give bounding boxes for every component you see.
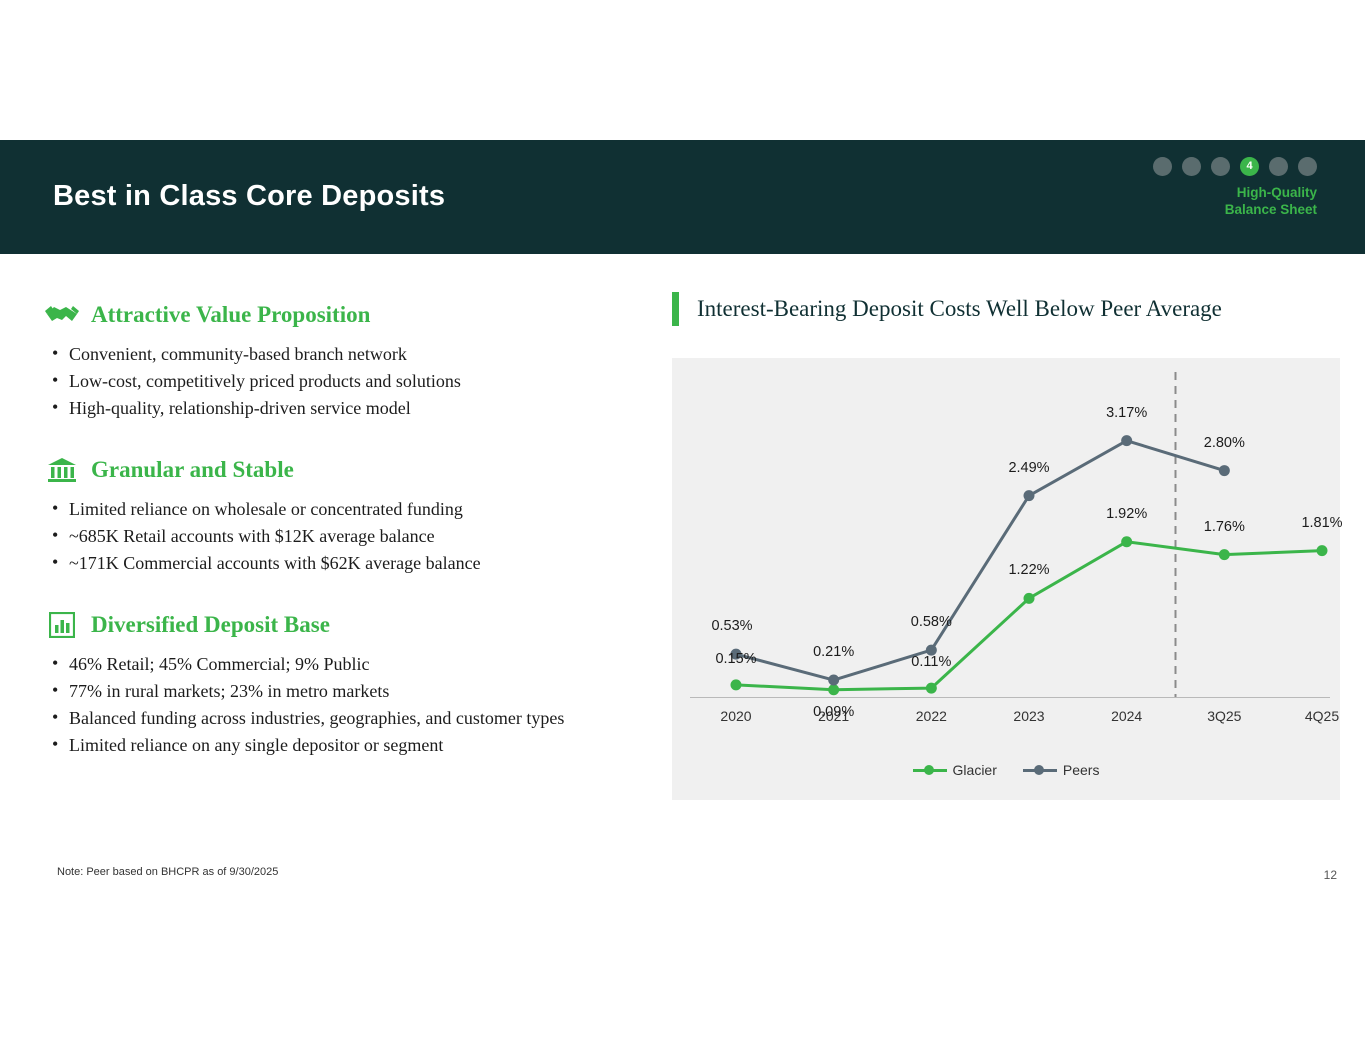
data-point-label: 0.53% (711, 618, 752, 634)
section-title: Diversified Deposit Base (91, 612, 330, 638)
data-point-label: 1.92% (1106, 506, 1147, 522)
section-header: Diversified Deposit Base (45, 610, 665, 640)
section-caption-line1: High-Quality (1225, 184, 1317, 201)
data-point-label: 1.22% (1008, 562, 1049, 578)
chart-container: 202020212022202320243Q254Q25 0.15%0.09%0… (672, 358, 1340, 800)
progress-dot-number: 4 (1240, 157, 1259, 176)
section-diversified-deposit-base: Diversified Deposit Base 46% Retail; 45%… (45, 610, 665, 758)
x-axis-tick-label: 4Q25 (1305, 708, 1339, 724)
list-item: 77% in rural markets; 23% in metro marke… (45, 679, 665, 704)
list-item: Limited reliance on wholesale or concent… (45, 497, 665, 522)
data-point-label: 0.15% (715, 651, 756, 667)
section-attractive-value-proposition: Attractive Value Proposition Convenient,… (45, 300, 665, 421)
bar-chart-icon (45, 610, 79, 640)
list-item: Limited reliance on any single depositor… (45, 733, 665, 758)
list-item: Balanced funding across industries, geog… (45, 706, 665, 731)
section-title: Granular and Stable (91, 457, 294, 483)
data-point-label: 0.58% (911, 614, 952, 630)
list-item: ~685K Retail accounts with $12K average … (45, 524, 665, 549)
legend-label: Peers (1063, 762, 1100, 778)
section-caption: High-Quality Balance Sheet (1225, 184, 1317, 218)
section-header: Attractive Value Proposition (45, 300, 665, 330)
chart-header: Interest-Bearing Deposit Costs Well Belo… (672, 292, 1222, 326)
legend-item-glacier: Glacier (913, 762, 997, 778)
data-point-label: 2.49% (1008, 460, 1049, 476)
data-point-label: 1.76% (1204, 519, 1245, 535)
legend-swatch-peers (1023, 769, 1057, 772)
data-point-label: 0.11% (911, 654, 951, 670)
x-axis-labels: 202020212022202320243Q254Q25 (672, 708, 1340, 728)
x-axis-tick-label: 2023 (1013, 708, 1044, 724)
chart-title: Interest-Bearing Deposit Costs Well Belo… (697, 296, 1222, 322)
progress-dot-4-active[interactable]: 4 (1240, 157, 1259, 176)
legend-item-peers: Peers (1023, 762, 1100, 778)
legend-label: Glacier (953, 762, 997, 778)
handshake-icon (45, 300, 79, 330)
bullet-list: 46% Retail; 45% Commercial; 9% Public 77… (45, 652, 665, 758)
section-header: Granular and Stable (45, 455, 665, 485)
list-item: ~171K Commercial accounts with $62K aver… (45, 551, 665, 576)
bullet-list: Limited reliance on wholesale or concent… (45, 497, 665, 576)
left-content: Attractive Value Proposition Convenient,… (45, 300, 665, 792)
data-point-label: 3.17% (1106, 405, 1147, 421)
legend-swatch-glacier (913, 769, 947, 772)
data-point-label: 1.81% (1301, 515, 1342, 531)
progress-dots: 4 (1153, 157, 1317, 176)
data-point-label: 0.09% (813, 704, 854, 720)
list-item: 46% Retail; 45% Commercial; 9% Public (45, 652, 665, 677)
list-item: High-quality, relationship-driven servic… (45, 396, 665, 421)
bank-building-icon (45, 455, 79, 485)
x-axis-tick-label: 2024 (1111, 708, 1142, 724)
progress-dot-5[interactable] (1269, 157, 1288, 176)
progress-dot-1[interactable] (1153, 157, 1172, 176)
page-number: 12 (1324, 868, 1337, 882)
progress-dot-6[interactable] (1298, 157, 1317, 176)
x-axis-line (690, 697, 1330, 698)
progress-dot-3[interactable] (1211, 157, 1230, 176)
x-axis-tick-label: 2022 (916, 708, 947, 724)
x-axis-tick-label: 3Q25 (1207, 708, 1241, 724)
x-axis-tick-label: 2020 (720, 708, 751, 724)
line-chart-plot (672, 358, 1340, 800)
page-title: Best in Class Core Deposits (53, 180, 445, 213)
chart-legend: Glacier Peers (672, 762, 1340, 778)
data-point-label: 0.21% (813, 644, 854, 660)
bullet-list: Convenient, community-based branch netwo… (45, 342, 665, 421)
accent-bar (672, 292, 679, 326)
section-granular-and-stable: Granular and Stable Limited reliance on … (45, 455, 665, 576)
section-caption-line2: Balance Sheet (1225, 201, 1317, 218)
section-title: Attractive Value Proposition (91, 302, 370, 328)
footnote: Note: Peer based on BHCPR as of 9/30/202… (57, 866, 278, 878)
data-point-label: 2.80% (1204, 435, 1245, 451)
slide: Best in Class Core Deposits 4 High-Quali… (0, 0, 1365, 1055)
list-item: Low-cost, competitively priced products … (45, 369, 665, 394)
list-item: Convenient, community-based branch netwo… (45, 342, 665, 367)
progress-dot-2[interactable] (1182, 157, 1201, 176)
